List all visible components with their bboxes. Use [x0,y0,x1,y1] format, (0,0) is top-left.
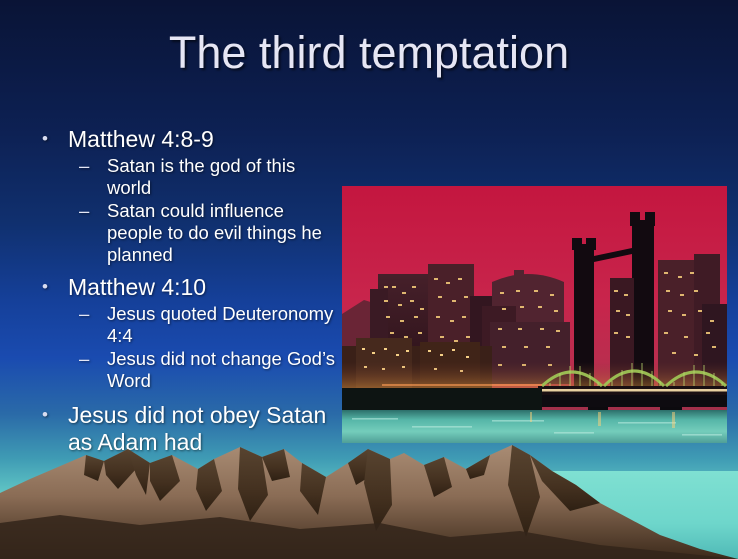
slide-body-content: Matthew 4:8-9 Satan is the god of this w… [30,126,340,458]
bullet-item-matthew-4-8-9: Matthew 4:8-9 [30,126,340,153]
slide-title: The third temptation [0,28,738,78]
sub-bullet-jesus-did-not-change-word: Jesus did not change God’s Word [30,348,340,392]
sub-bullet-satan-god-of-world: Satan is the god of this world [30,155,340,199]
bullet-item-matthew-4-10: Matthew 4:10 [30,274,340,301]
sub-bullet-satan-influence-people: Satan could influence people to do evil … [30,200,340,266]
spacer [30,267,340,274]
spacer [30,393,340,402]
city-skyline-at-night-photo [342,186,727,443]
presentation-slide: The third temptation Matthew 4:8-9 Satan… [0,0,738,559]
sub-bullet-jesus-quoted-deuteronomy: Jesus quoted Deuteronomy 4:4 [30,303,340,347]
bullet-item-jesus-did-not-obey-satan: Jesus did not obey Satan as Adam had [30,402,340,456]
